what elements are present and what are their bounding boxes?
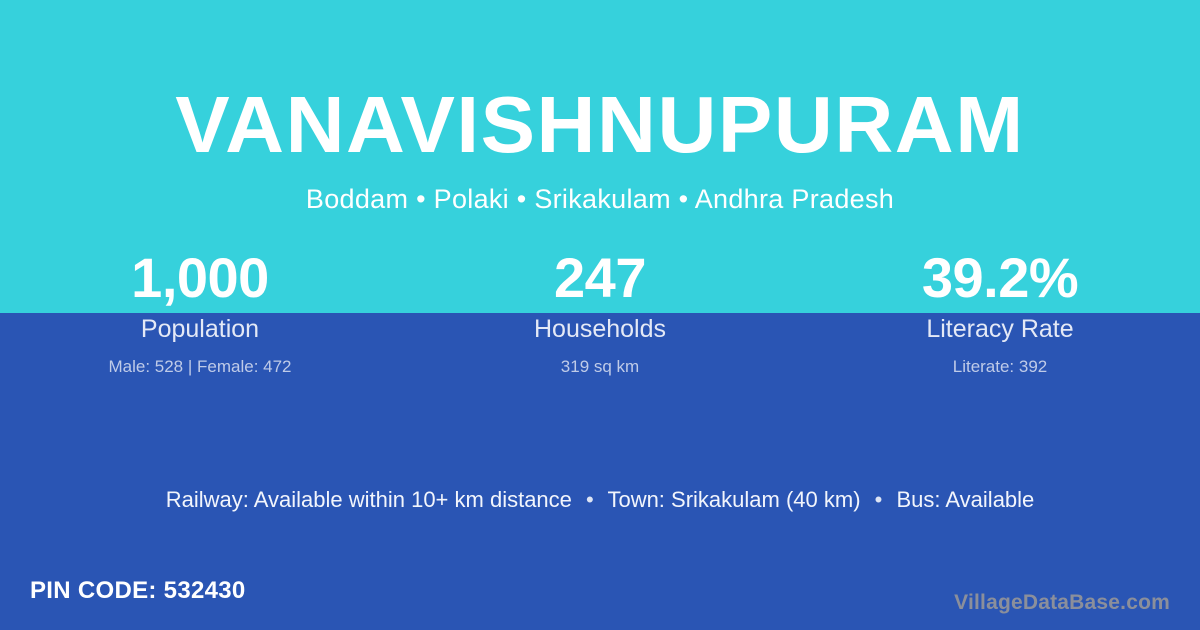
- stat-households: 247 Households 319 sq km: [400, 246, 800, 386]
- facility-town: Town: Srikakulam (40 km): [607, 487, 860, 512]
- stat-literacy-rate: 39.2% Literacy Rate Literate: 392: [800, 246, 1200, 386]
- stat-households-label: Households: [400, 313, 800, 345]
- facility-railway: Railway: Available within 10+ km distanc…: [166, 487, 572, 512]
- stat-households-value: 247: [400, 246, 800, 310]
- facility-bus: Bus: Available: [896, 487, 1034, 512]
- stat-households-sub: 319 sq km: [400, 355, 800, 379]
- stat-literacy-rate-value: 39.2%: [800, 246, 1200, 310]
- breadcrumb: Boddam • Polaki • Srikakulam • Andhra Pr…: [0, 181, 1200, 217]
- stat-population: 1,000 Population Male: 528 | Female: 472: [0, 246, 400, 386]
- stat-literacy-rate-label: Literacy Rate: [800, 313, 1200, 345]
- facility-separator-2: •: [867, 487, 891, 512]
- stats-row: 1,000 Population Male: 528 | Female: 472…: [0, 246, 1200, 386]
- pin-code-label: PIN CODE: 532430: [30, 575, 246, 607]
- stat-literacy-rate-sub: Literate: 392: [800, 355, 1200, 379]
- facility-separator-1: •: [578, 487, 602, 512]
- facilities-row: Railway: Available within 10+ km distanc…: [0, 484, 1200, 516]
- page-title: VANAVISHNUPURAM: [0, 82, 1200, 168]
- stat-population-label: Population: [0, 313, 400, 345]
- stat-population-sub: Male: 528 | Female: 472: [0, 355, 400, 379]
- site-watermark: VillageDataBase.com: [954, 589, 1170, 617]
- village-info-card: VANAVISHNUPURAM Boddam • Polaki • Srikak…: [0, 0, 1200, 630]
- stat-population-value: 1,000: [0, 246, 400, 310]
